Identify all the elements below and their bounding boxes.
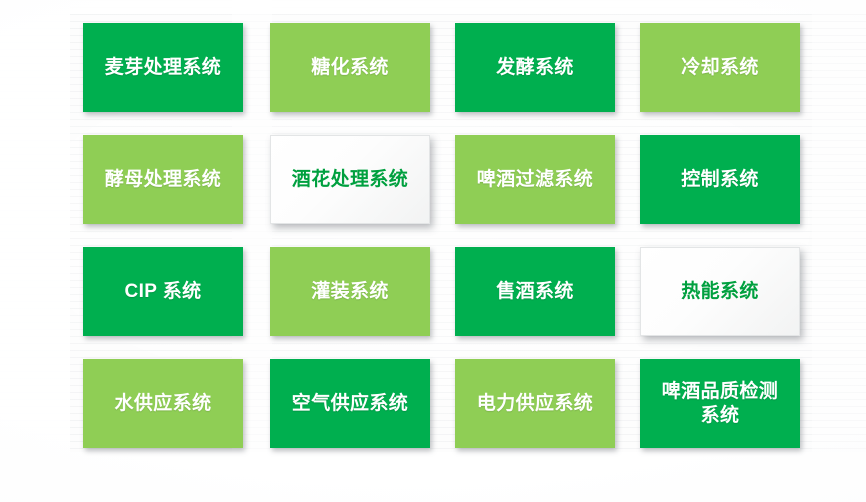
system-tile-label: 控制系统 <box>681 168 759 191</box>
system-tile[interactable]: 灌装系统 <box>270 247 430 336</box>
system-tile-label: 热能系统 <box>681 280 759 303</box>
system-tile-label: 冷却系统 <box>681 56 759 79</box>
system-tile[interactable]: 啤酒过滤系统 <box>455 135 615 224</box>
system-tile-label: 糖化系统 <box>311 56 389 79</box>
slide-canvas: 麦芽处理系统糖化系统发酵系统冷却系统酵母处理系统酒花处理系统啤酒过滤系统控制系统… <box>0 0 866 502</box>
system-tile[interactable]: 空气供应系统 <box>270 359 430 448</box>
system-tile[interactable]: 控制系统 <box>640 135 800 224</box>
system-tile-grid: 麦芽处理系统糖化系统发酵系统冷却系统酵母处理系统酒花处理系统啤酒过滤系统控制系统… <box>0 0 866 502</box>
system-tile-label: 酒花处理系统 <box>292 168 408 191</box>
system-tile[interactable]: 水供应系统 <box>83 359 243 448</box>
system-tile[interactable]: 糖化系统 <box>270 23 430 112</box>
system-tile-label: CIP 系统 <box>124 280 201 303</box>
system-tile-label: 空气供应系统 <box>292 392 408 415</box>
system-tile[interactable]: 售酒系统 <box>455 247 615 336</box>
system-tile[interactable]: 麦芽处理系统 <box>83 23 243 112</box>
system-tile[interactable]: 电力供应系统 <box>455 359 615 448</box>
system-tile-label: 发酵系统 <box>496 56 574 79</box>
system-tile[interactable]: 发酵系统 <box>455 23 615 112</box>
system-tile[interactable]: 啤酒品质检测 系统 <box>640 359 800 448</box>
system-tile-label: 电力供应系统 <box>477 392 593 415</box>
system-tile[interactable]: 冷却系统 <box>640 23 800 112</box>
system-tile-label: 售酒系统 <box>496 280 574 303</box>
system-tile[interactable]: 热能系统 <box>640 247 800 336</box>
system-tile-label: 啤酒过滤系统 <box>477 168 593 191</box>
system-tile-label: 酵母处理系统 <box>105 168 221 191</box>
system-tile-label: 水供应系统 <box>114 392 211 415</box>
system-tile[interactable]: 酒花处理系统 <box>270 135 430 224</box>
system-tile[interactable]: 酵母处理系统 <box>83 135 243 224</box>
system-tile-label: 麦芽处理系统 <box>105 56 221 79</box>
system-tile[interactable]: CIP 系统 <box>83 247 243 336</box>
system-tile-label: 灌装系统 <box>311 280 389 303</box>
system-tile-label: 啤酒品质检测 系统 <box>662 380 778 426</box>
